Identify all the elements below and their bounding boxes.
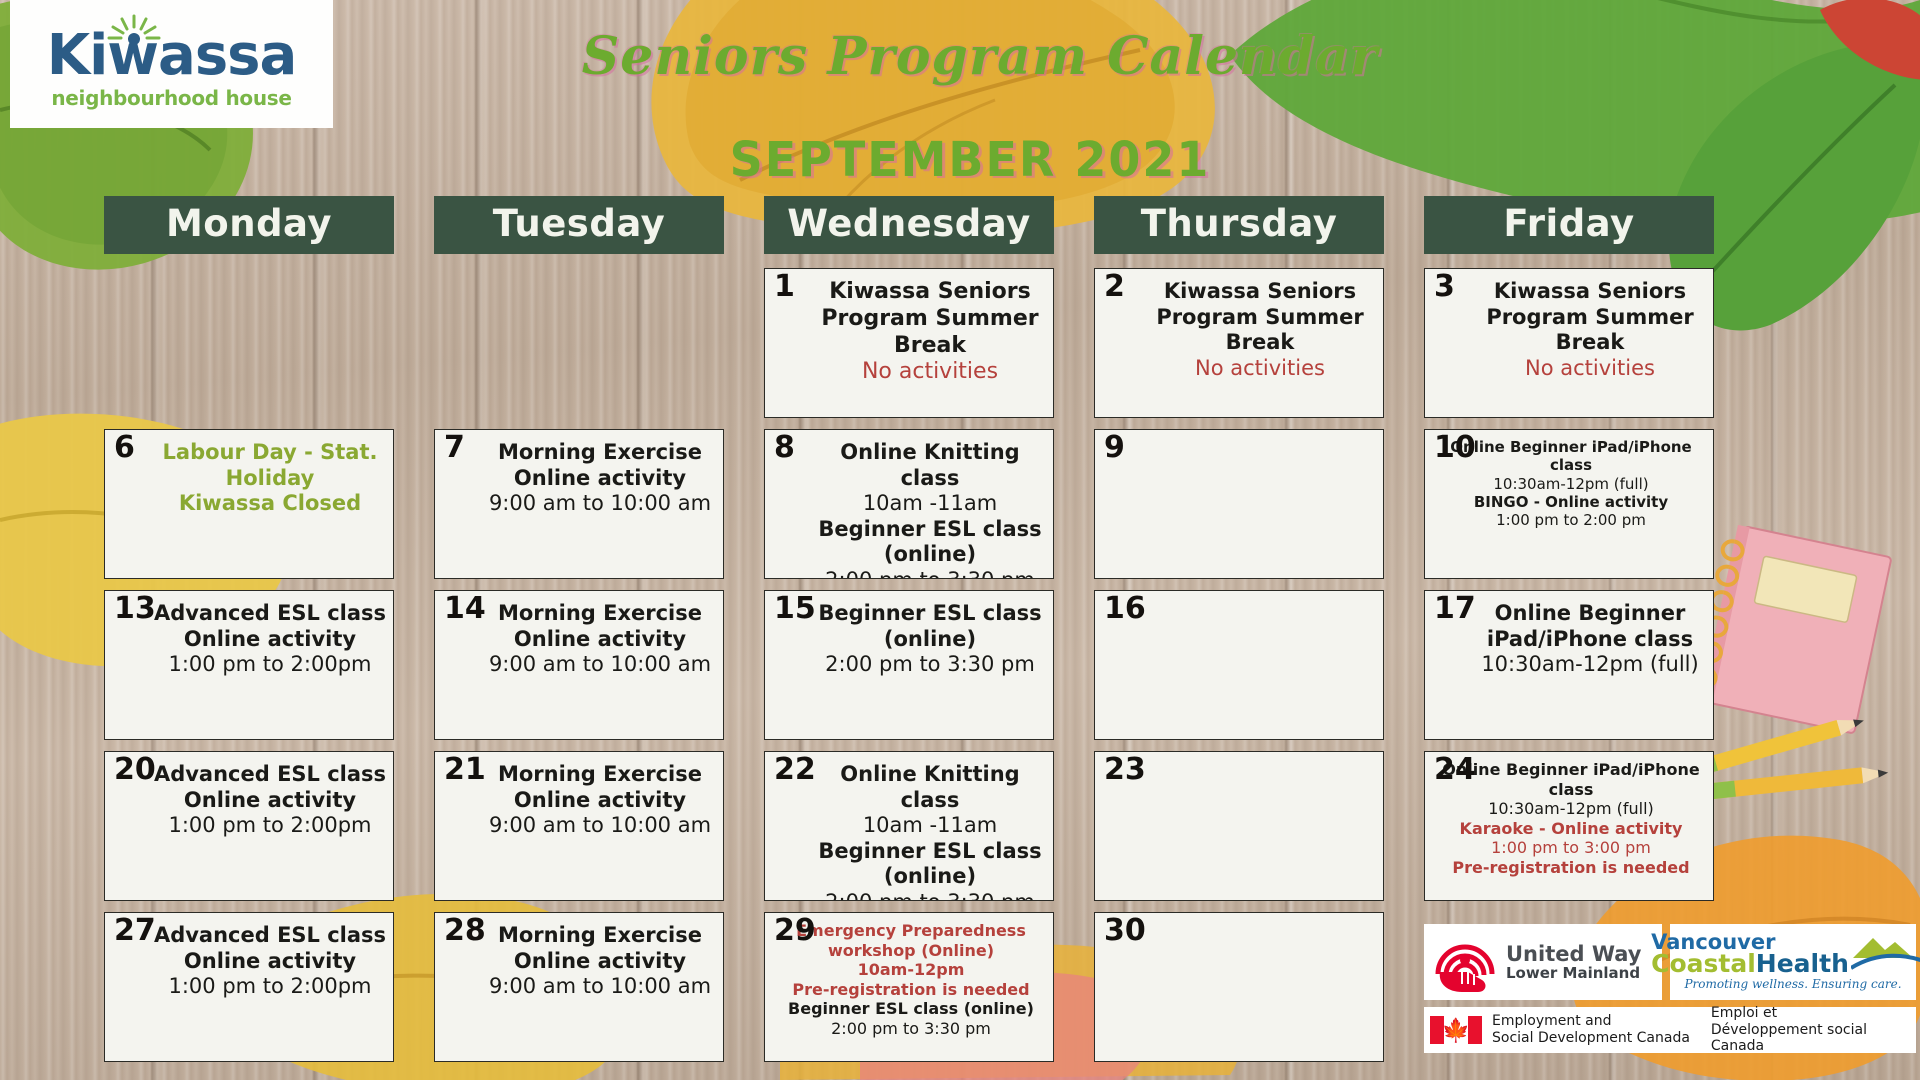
united-way-logo: United Way Lower Mainland bbox=[1424, 924, 1662, 1000]
event-line: 10:30am-12pm (full) bbox=[1435, 475, 1707, 493]
event-line: 10:30am-12pm (full) bbox=[1473, 652, 1707, 678]
esdc-fr-line1: Emploi et bbox=[1711, 1005, 1910, 1022]
event-line: class bbox=[1435, 456, 1707, 474]
event-line: 9:00 am to 10:00 am bbox=[483, 652, 717, 678]
esdc-en-line2: Social Development Canada bbox=[1492, 1030, 1701, 1047]
event-line: Pre-registration is needed bbox=[775, 980, 1047, 1000]
event-line: Online activity bbox=[153, 788, 387, 814]
calendar-day-cell-16[interactable]: 16 bbox=[1094, 590, 1384, 740]
vch-health-word: Health bbox=[1756, 949, 1849, 978]
weekday-header-tuesday: Tuesday bbox=[434, 196, 724, 254]
united-way-line1: United Way bbox=[1506, 943, 1641, 965]
calendar-day-cell-29[interactable]: 29Emergency Preparednessworkshop (Online… bbox=[764, 912, 1054, 1062]
event-line: 10am -11am bbox=[813, 491, 1047, 517]
calendar-day-cell-23[interactable]: 23 bbox=[1094, 751, 1384, 901]
event-line: Advanced ESL class bbox=[153, 762, 387, 788]
event-line: Beginner ESL class (online) bbox=[813, 839, 1047, 890]
event-line: Beginner ESL class bbox=[813, 601, 1047, 627]
day-events: Kiwassa SeniorsProgram SummerBreakNo act… bbox=[771, 273, 1047, 386]
event-line: Break bbox=[1473, 330, 1707, 356]
day-number: 10 bbox=[1434, 432, 1476, 464]
event-line: (online) bbox=[813, 627, 1047, 653]
event-line: Karaoke - Online activity bbox=[1435, 819, 1707, 839]
vch-tagline: Promoting wellness. Ensuring care. bbox=[1684, 977, 1901, 991]
event-line: 9:00 am to 10:00 am bbox=[483, 491, 717, 517]
event-line: 1:00 pm to 3:00 pm bbox=[1435, 838, 1707, 858]
kiwassa-logo: Kiwassa neighbourhood house bbox=[10, 0, 333, 128]
calendar-day-cell-14[interactable]: 14Morning ExerciseOnline activity9:00 am… bbox=[434, 590, 724, 740]
calendar-day-cell-17[interactable]: 17Online BeginneriPad/iPhone class10:30a… bbox=[1424, 590, 1714, 740]
calendar-cell-empty bbox=[434, 268, 724, 418]
sunburst-flower-icon bbox=[106, 14, 162, 48]
day-number: 6 bbox=[114, 432, 135, 464]
event-line: 2:00 pm to 3:30 pm bbox=[775, 1019, 1047, 1039]
day-number: 21 bbox=[444, 754, 486, 786]
day-number: 8 bbox=[774, 432, 795, 464]
calendar-week-row: 20Advanced ESL classOnline activity1:00 … bbox=[104, 751, 1714, 901]
event-line: 10am -11am bbox=[813, 813, 1047, 839]
event-line: 9:00 am to 10:00 am bbox=[483, 813, 717, 839]
day-number: 3 bbox=[1434, 271, 1455, 303]
event-line: Morning Exercise bbox=[483, 762, 717, 788]
event-line: Emergency Preparedness bbox=[775, 921, 1047, 941]
seniors-program-calendar-poster: Kiwassa neighbourhood house Seniors Prog… bbox=[0, 0, 1920, 1080]
event-line: 9:00 am to 10:00 am bbox=[483, 974, 717, 1000]
event-line: 10am-12pm bbox=[775, 960, 1047, 980]
day-number: 1 bbox=[774, 271, 795, 303]
event-line: No activities bbox=[1473, 356, 1707, 382]
event-line: Kiwassa Seniors bbox=[813, 279, 1047, 306]
day-number: 27 bbox=[114, 915, 156, 947]
day-number: 17 bbox=[1434, 593, 1476, 625]
event-line: 2:00 pm to 3:30 pm bbox=[813, 890, 1047, 901]
event-line: 10:30am-12pm (full) bbox=[1435, 799, 1707, 819]
event-line: Online activity bbox=[483, 627, 717, 653]
day-number: 24 bbox=[1434, 754, 1476, 786]
calendar-day-cell-13[interactable]: 13Advanced ESL classOnline activity1:00 … bbox=[104, 590, 394, 740]
sponsor-logos: United Way Lower Mainland Vancouver Coas… bbox=[1424, 924, 1916, 1053]
calendar-day-cell-3[interactable]: 3Kiwassa SeniorsProgram SummerBreakNo ac… bbox=[1424, 268, 1714, 418]
logo-tagline: neighbourhood house bbox=[51, 86, 291, 110]
calendar-day-cell-21[interactable]: 21Morning ExerciseOnline activity9:00 am… bbox=[434, 751, 724, 901]
event-line: Online activity bbox=[483, 949, 717, 975]
day-number: 29 bbox=[774, 915, 816, 947]
event-line: workshop (Online) bbox=[775, 941, 1047, 961]
calendar-week-row: 13Advanced ESL classOnline activity1:00 … bbox=[104, 590, 1714, 740]
event-line: Online activity bbox=[483, 466, 717, 492]
event-line: Pre-registration is needed bbox=[1435, 858, 1707, 878]
event-line: Break bbox=[1143, 330, 1377, 356]
event-line: Advanced ESL class bbox=[153, 923, 387, 949]
calendar-day-cell-10[interactable]: 10Online Beginner iPad/iPhoneclass10:30a… bbox=[1424, 429, 1714, 579]
event-line: 1:00 pm to 2:00 pm bbox=[1435, 511, 1707, 529]
event-line: Morning Exercise bbox=[483, 440, 717, 466]
calendar-day-cell-7[interactable]: 7Morning ExerciseOnline activity9:00 am … bbox=[434, 429, 724, 579]
mountain-wave-icon bbox=[1851, 934, 1920, 974]
event-line: Online Knitting class bbox=[813, 762, 1047, 813]
calendar-week-row: 1Kiwassa SeniorsProgram SummerBreakNo ac… bbox=[104, 268, 1714, 418]
day-number: 20 bbox=[114, 754, 156, 786]
event-line: No activities bbox=[1143, 356, 1377, 382]
event-line: Advanced ESL class bbox=[153, 601, 387, 627]
weekday-header-monday: Monday bbox=[104, 196, 394, 254]
day-number: 7 bbox=[444, 432, 465, 464]
event-line: Kiwassa Seniors bbox=[1143, 279, 1377, 305]
calendar-day-cell-30[interactable]: 30 bbox=[1094, 912, 1384, 1062]
event-line: Morning Exercise bbox=[483, 601, 717, 627]
month-title: SEPTEMBER 2021 bbox=[0, 131, 1920, 188]
day-number: 16 bbox=[1104, 593, 1146, 625]
calendar-day-cell-8[interactable]: 8Online Knitting class10am -11amBeginner… bbox=[764, 429, 1054, 579]
day-number: 30 bbox=[1104, 915, 1146, 947]
day-number: 2 bbox=[1104, 271, 1125, 303]
vch-coastal-word: Coastal bbox=[1651, 949, 1756, 978]
weekday-header-wednesday: Wednesday bbox=[764, 196, 1054, 254]
united-way-line2: Lower Mainland bbox=[1506, 966, 1641, 982]
weekday-header-row: MondayTuesdayWednesdayThursdayFriday bbox=[104, 196, 1714, 254]
event-line: BINGO - Online activity bbox=[1435, 493, 1707, 511]
event-line: 1:00 pm to 2:00pm bbox=[153, 813, 387, 839]
calendar-week-row: 6Labour Day - Stat.HolidayKiwassa Closed… bbox=[104, 429, 1714, 579]
calendar-day-cell-15[interactable]: 15Beginner ESL class(online)2:00 pm to 3… bbox=[764, 590, 1054, 740]
united-way-hand-rainbow-icon bbox=[1432, 930, 1498, 994]
calendar-day-cell-22[interactable]: 22Online Knitting class10am -11amBeginne… bbox=[764, 751, 1054, 901]
day-events: Kiwassa SeniorsProgram SummerBreakNo act… bbox=[1101, 273, 1377, 381]
day-number: 9 bbox=[1104, 432, 1125, 464]
weekday-header-friday: Friday bbox=[1424, 196, 1714, 254]
event-line: Labour Day - Stat. bbox=[153, 440, 387, 466]
esdc-fr-line2: Développement social Canada bbox=[1711, 1022, 1910, 1055]
calendar-day-cell-6[interactable]: 6Labour Day - Stat.HolidayKiwassa Closed bbox=[104, 429, 394, 579]
calendar-day-cell-27[interactable]: 27Advanced ESL classOnline activity1:00 … bbox=[104, 912, 394, 1062]
logo-wordmark: Kiwassa bbox=[47, 28, 297, 84]
event-line: Break bbox=[813, 333, 1047, 360]
event-line: Online Knitting class bbox=[813, 440, 1047, 491]
event-line: Online Beginner bbox=[1473, 601, 1707, 627]
calendar-day-cell-2[interactable]: 2Kiwassa SeniorsProgram SummerBreakNo ac… bbox=[1094, 268, 1384, 418]
event-line: Morning Exercise bbox=[483, 923, 717, 949]
event-line: Online activity bbox=[483, 788, 717, 814]
vancouver-coastal-health-logo: Vancouver CoastalHealth Promoting wellne… bbox=[1670, 924, 1916, 1000]
canada-flag-icon: 🍁 bbox=[1430, 1016, 1482, 1044]
day-number: 15 bbox=[774, 593, 816, 625]
event-line: 1:00 pm to 2:00pm bbox=[153, 652, 387, 678]
event-line: iPad/iPhone class bbox=[1473, 627, 1707, 653]
day-number: 28 bbox=[444, 915, 486, 947]
weekday-header-thursday: Thursday bbox=[1094, 196, 1384, 254]
event-line: Kiwassa Seniors bbox=[1473, 279, 1707, 305]
event-line: Online activity bbox=[153, 627, 387, 653]
day-events: Online Knitting class10am -11amBeginner … bbox=[771, 434, 1047, 579]
calendar-day-cell-28[interactable]: 28Morning ExerciseOnline activity9:00 am… bbox=[434, 912, 724, 1062]
day-number: 14 bbox=[444, 593, 486, 625]
event-line: Holiday bbox=[153, 466, 387, 492]
event-line: Online Beginner iPad/iPhone class bbox=[1435, 760, 1707, 799]
event-line: 2:00 pm to 3:30 pm bbox=[813, 652, 1047, 678]
esdc-logo: 🍁 Employment and Social Development Cana… bbox=[1424, 1007, 1916, 1053]
event-line: Beginner ESL class (online) bbox=[813, 517, 1047, 568]
day-events: Labour Day - Stat.HolidayKiwassa Closed bbox=[111, 434, 387, 517]
event-line: Program Summer bbox=[1473, 305, 1707, 331]
day-number: 13 bbox=[114, 593, 156, 625]
event-line: Program Summer bbox=[813, 306, 1047, 333]
day-number: 22 bbox=[774, 754, 816, 786]
day-number: 23 bbox=[1104, 754, 1146, 786]
calendar-cell-empty bbox=[104, 268, 394, 418]
event-line: 1:00 pm to 2:00pm bbox=[153, 974, 387, 1000]
event-line: Online activity bbox=[153, 949, 387, 975]
event-line: Kiwassa Closed bbox=[153, 491, 387, 517]
calendar-day-cell-20[interactable]: 20Advanced ESL classOnline activity1:00 … bbox=[104, 751, 394, 901]
calendar-day-cell-24[interactable]: 24Online Beginner iPad/iPhone class10:30… bbox=[1424, 751, 1714, 901]
event-line: 2:00 pm to 3:30 pm bbox=[813, 568, 1047, 579]
day-events: Morning ExerciseOnline activity9:00 am t… bbox=[441, 434, 717, 517]
day-events: Kiwassa SeniorsProgram SummerBreakNo act… bbox=[1431, 273, 1707, 381]
event-line: No activities bbox=[813, 359, 1047, 386]
event-line: Beginner ESL class (online) bbox=[775, 999, 1047, 1019]
esdc-en-line1: Employment and bbox=[1492, 1013, 1701, 1030]
event-line: Online Beginner iPad/iPhone bbox=[1435, 438, 1707, 456]
calendar-day-cell-1[interactable]: 1Kiwassa SeniorsProgram SummerBreakNo ac… bbox=[764, 268, 1054, 418]
event-line: Program Summer bbox=[1143, 305, 1377, 331]
calendar-day-cell-9[interactable]: 9 bbox=[1094, 429, 1384, 579]
